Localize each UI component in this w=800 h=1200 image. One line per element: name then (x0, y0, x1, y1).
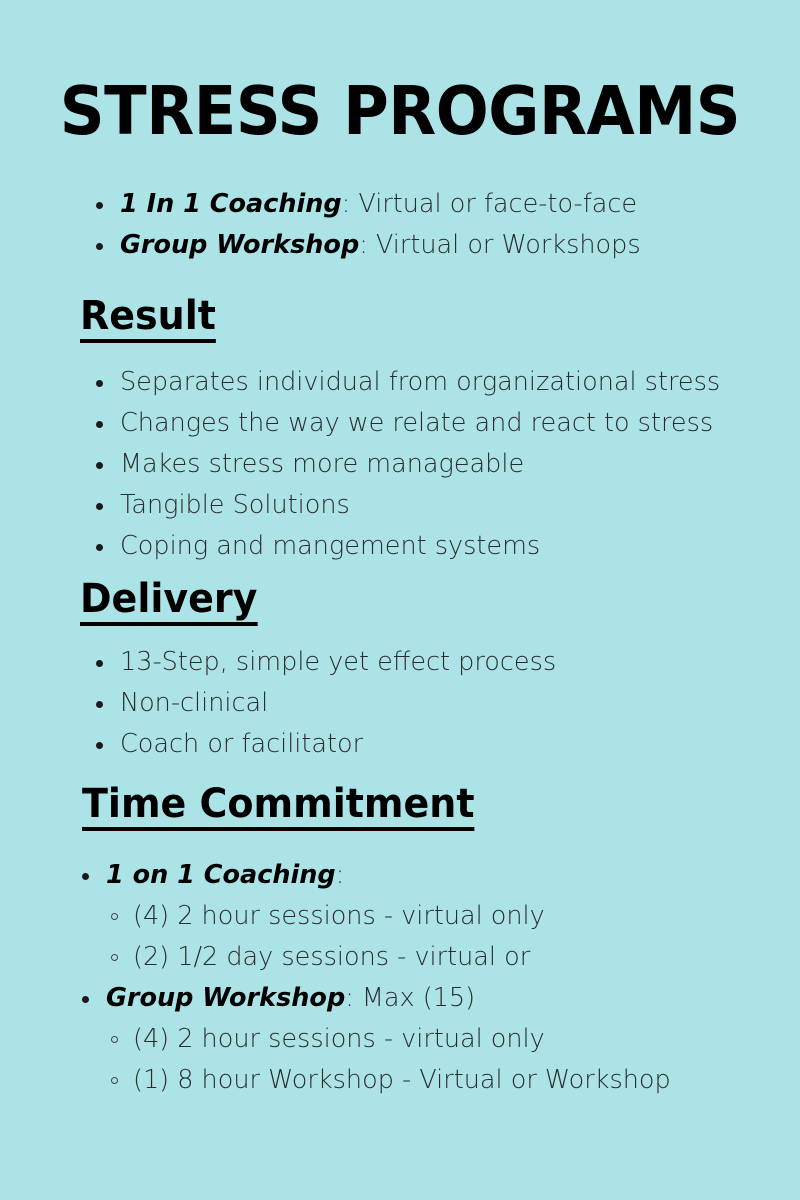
section-header-result: Result (80, 295, 223, 343)
list-item: 1 on 1 Coaching: (78, 855, 671, 896)
delivery-list: 13-Step, simple yet effect process Non-c… (92, 642, 556, 765)
list-item-lead: Group Workshop (106, 983, 345, 1013)
list-item: Group Workshop: Virtual or Workshops (92, 225, 641, 266)
page-title: STRESS PROGRAMS (28, 78, 772, 145)
intro-list-container: 1 In 1 Coaching: Virtual or face-to-face… (92, 184, 641, 266)
time-commitment-sublist-workshop: (4) 2 hour sessions - virtual only (1) 8… (78, 1019, 671, 1101)
list-item: Makes stress more manageable (92, 444, 720, 485)
list-item: (1) 8 hour Workshop - Virtual or Worksho… (106, 1060, 671, 1101)
list-item: Tangible Solutions (92, 485, 720, 526)
list-item-rest: : Virtual or face-to-face (342, 189, 637, 219)
section-heading-text: Time Commitment (82, 783, 475, 831)
time-commitment-list: Group Workshop: Max (15) (78, 978, 671, 1019)
list-item-rest: : Max (15) (345, 983, 475, 1013)
time-commitment-sublist-coaching: (4) 2 hour sessions - virtual only (2) 1… (78, 896, 671, 978)
list-item: Separates individual from organizational… (92, 362, 720, 403)
list-item: Coping and mangement systems (92, 526, 720, 567)
poster-canvas: STRESS PROGRAMS 1 In 1 Coaching: Virtual… (0, 0, 800, 1200)
list-item-lead: 1 on 1 Coaching (106, 860, 336, 890)
list-item: Coach or facilitator (92, 724, 556, 765)
list-item: 1 In 1 Coaching: Virtual or face-to-face (92, 184, 641, 225)
list-item: Changes the way we relate and react to s… (92, 403, 720, 444)
section-header-delivery: Delivery (80, 578, 267, 626)
list-item: Non-clinical (92, 683, 556, 724)
section-header-time-commitment: Time Commitment (82, 783, 495, 831)
list-item: Group Workshop: Max (15) (78, 978, 671, 1019)
list-item: (4) 2 hour sessions - virtual only (106, 896, 671, 937)
time-commitment-list: 1 on 1 Coaching: (78, 855, 671, 896)
section-heading-text: Delivery (80, 578, 257, 626)
result-list-container: Separates individual from organizational… (92, 362, 720, 567)
list-item-lead: Group Workshop (120, 230, 359, 260)
result-list: Separates individual from organizational… (92, 362, 720, 567)
time-commitment-list-container: 1 on 1 Coaching: (4) 2 hour sessions - v… (78, 855, 671, 1101)
list-item-rest: : (336, 860, 345, 890)
delivery-list-container: 13-Step, simple yet effect process Non-c… (92, 642, 556, 765)
list-item: 13-Step, simple yet effect process (92, 642, 556, 683)
list-item: (4) 2 hour sessions - virtual only (106, 1019, 671, 1060)
list-item: (2) 1/2 day sessions - virtual or (106, 937, 671, 978)
section-heading-text: Result (80, 295, 216, 343)
intro-list: 1 In 1 Coaching: Virtual or face-to-face… (92, 184, 641, 266)
list-item-lead: 1 In 1 Coaching (120, 189, 342, 219)
list-item-rest: : Virtual or Workshops (359, 230, 640, 260)
